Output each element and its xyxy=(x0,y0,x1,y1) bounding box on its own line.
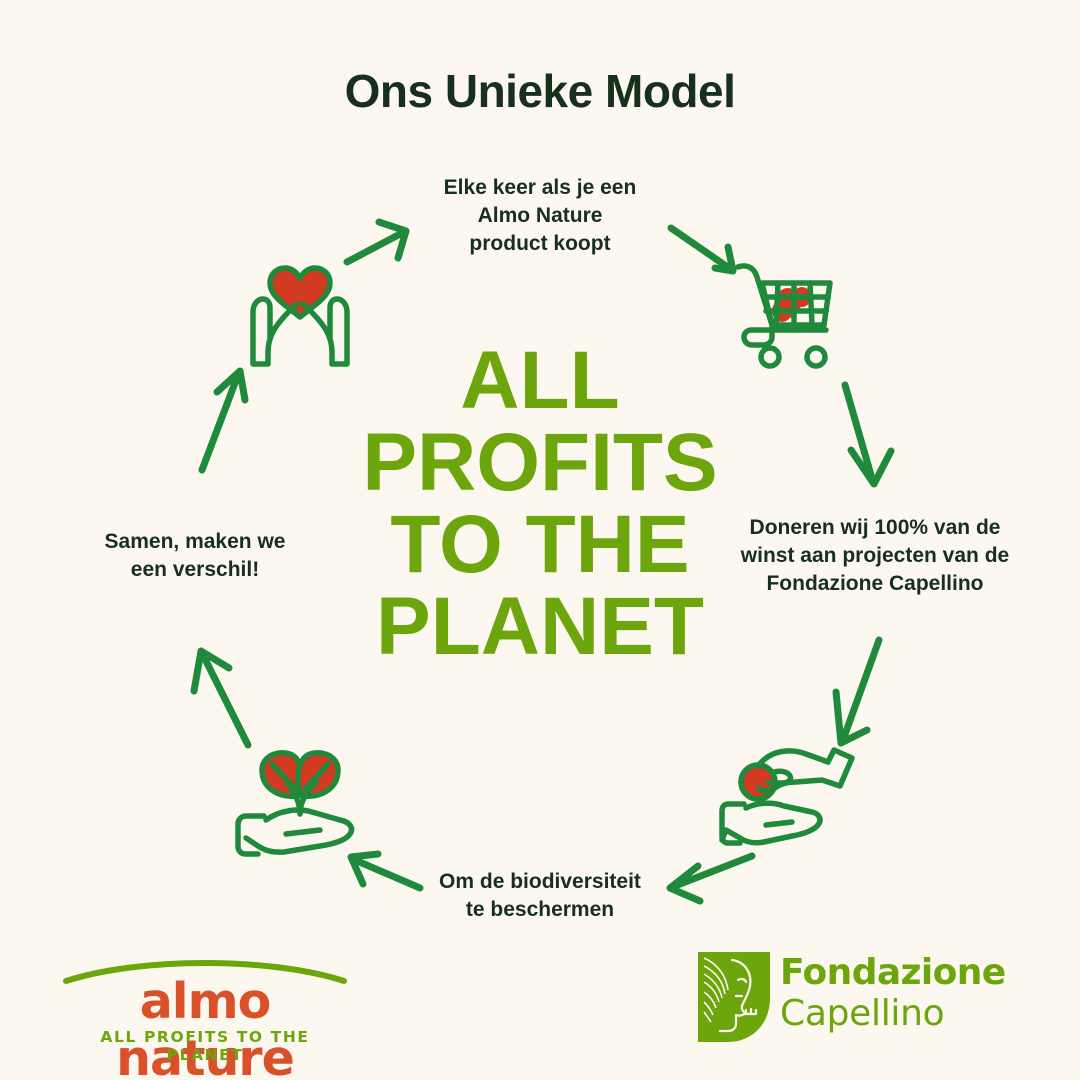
label-donate-line-1: Doneren wij 100% van de xyxy=(700,514,1050,542)
fondazione-line-2: Capellino xyxy=(780,993,1006,1035)
label-donate-line-2: winst aan projecten van de xyxy=(700,542,1050,570)
fondazione-face-mark-icon xyxy=(698,952,770,1042)
label-donate-line-3: Fondazione Capellino xyxy=(700,570,1050,598)
label-purchase-line-3: product koopt xyxy=(380,230,700,258)
slogan-line-4: PLANET xyxy=(300,586,780,668)
arrow-together-to-heart xyxy=(202,371,245,470)
hand-holding-sprout-icon xyxy=(232,736,372,860)
label-purchase: Elke keer als je een Almo Nature product… xyxy=(380,174,700,258)
hands-holding-heart-icon xyxy=(240,252,360,372)
shopping-cart-icon xyxy=(730,255,850,370)
arrow-cart-to-donate xyxy=(845,385,891,484)
label-donate: Doneren wij 100% van de winst aan projec… xyxy=(700,514,1050,598)
fondazione-capellino-wordmark: Fondazione Capellino xyxy=(780,952,1006,1036)
page-title: Ons Unieke Model xyxy=(0,64,1080,118)
slogan-line-2: PROFITS xyxy=(300,422,780,504)
almo-nature-logo: almo nature ALL PROFITS TO THE PLANET xyxy=(60,955,350,1055)
label-together-line-2: een verschil! xyxy=(45,556,345,584)
label-purchase-line-1: Elke keer als je een xyxy=(380,174,700,202)
arrow-donate-to-coin xyxy=(836,640,879,743)
fondazione-line-1: Fondazione xyxy=(780,952,1006,993)
label-biodiversity: Om de biodiversiteit te beschermen xyxy=(390,868,690,924)
infographic-canvas: Ons Unieke Model xyxy=(0,0,1080,1080)
fondazione-capellino-logo: Fondazione Capellino xyxy=(698,952,1028,1048)
slogan-line-1: ALL xyxy=(300,340,780,422)
label-together: Samen, maken we een verschil! xyxy=(45,528,345,584)
almo-nature-tagline: ALL PROFITS TO THE PLANET xyxy=(60,1028,350,1064)
label-together-line-1: Samen, maken we xyxy=(45,528,345,556)
center-slogan: ALL PROFITS TO THE PLANET xyxy=(300,340,780,668)
arrow-sprout-to-together xyxy=(194,651,248,745)
label-purchase-line-2: Almo Nature xyxy=(380,202,700,230)
label-biodiversity-line-2: te beschermen xyxy=(390,896,690,924)
label-biodiversity-line-1: Om de biodiversiteit xyxy=(390,868,690,896)
hand-giving-coin-icon xyxy=(718,742,858,854)
